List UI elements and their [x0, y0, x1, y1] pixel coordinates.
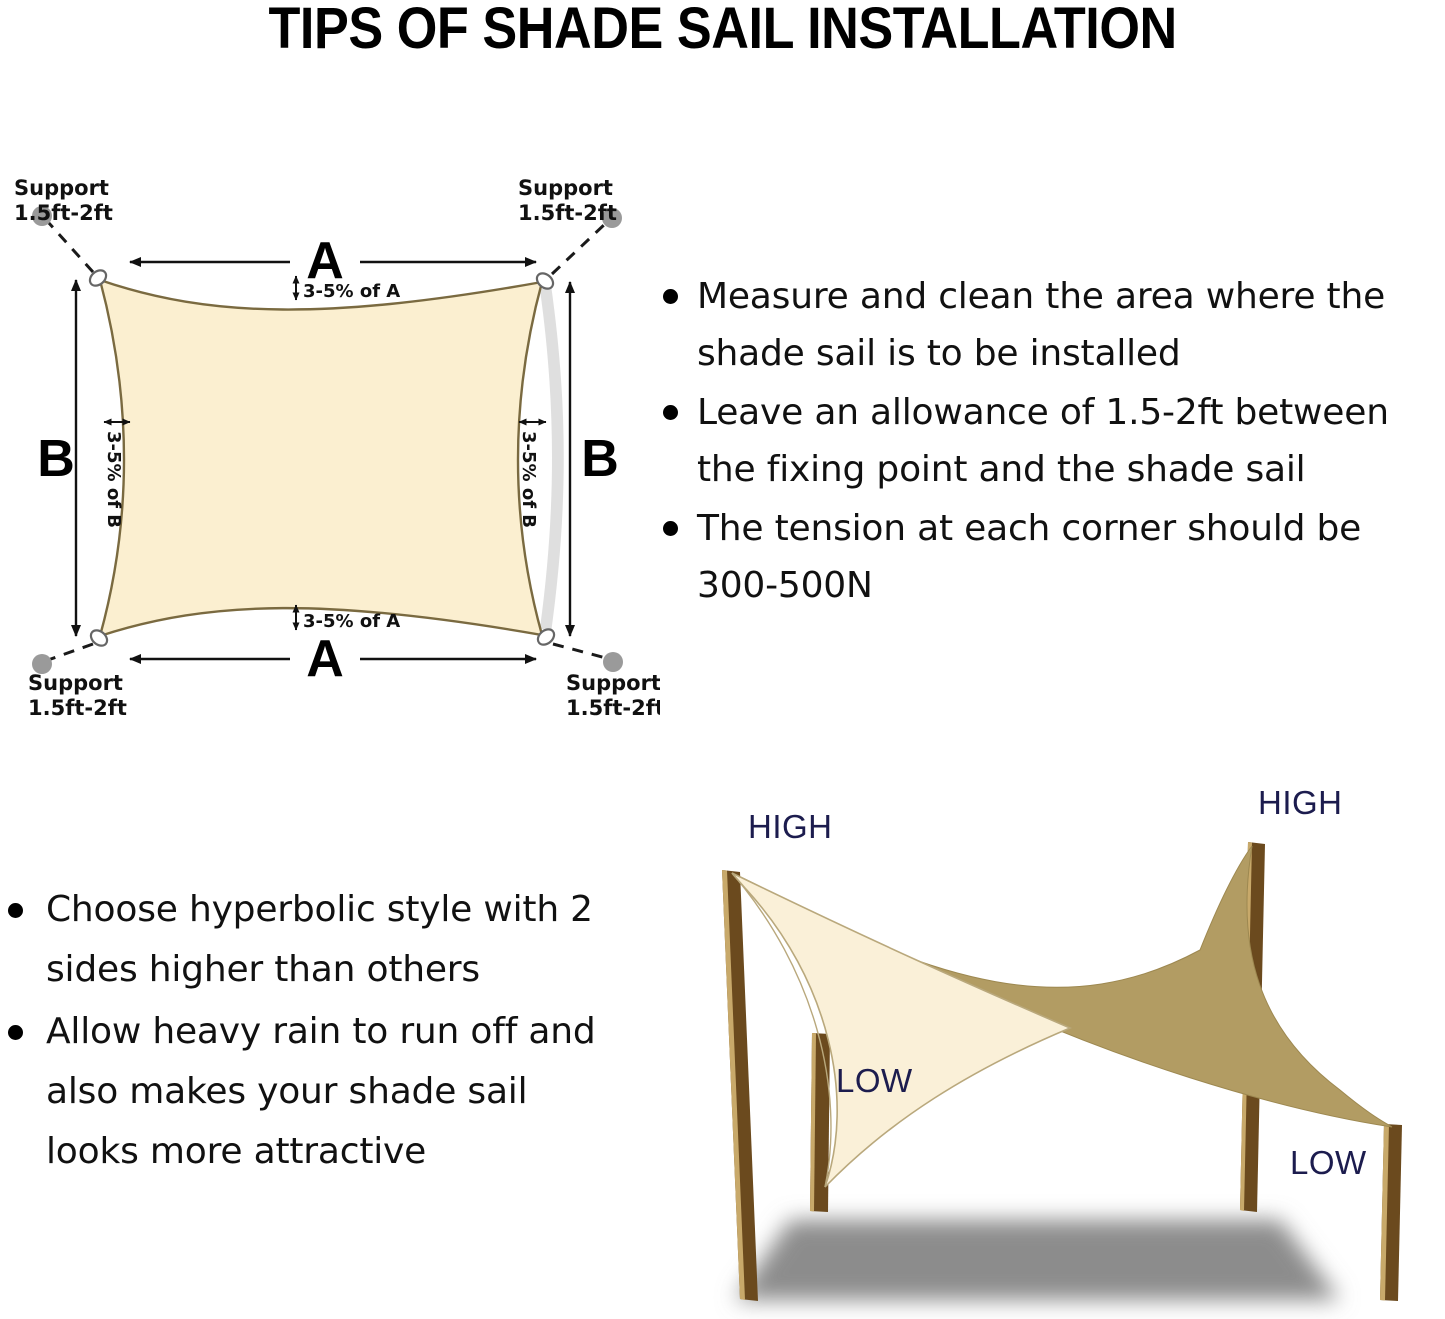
list-item: Leave an allowance of 1.5-2ft between th…	[645, 384, 1445, 498]
svg-text:Support: Support	[28, 671, 123, 695]
dimension-label-B-left: B	[37, 430, 75, 488]
support-label-bottom-left: Support 1.5ft-2ft	[28, 671, 127, 720]
post-label-high-left: HIGH	[748, 808, 833, 845]
hyperbolic-shade-sail-illustration: HIGH HIGH LOW LOW	[640, 770, 1445, 1319]
support-label-top-right: Support 1.5ft-2ft	[518, 176, 617, 225]
shade-sail-shape	[100, 280, 542, 636]
list-item-label: Leave an allowance of 1.5-2ft between th…	[697, 384, 1445, 498]
post-low-right	[1380, 1124, 1402, 1301]
svg-text:Support: Support	[518, 176, 613, 200]
list-item: The tension at each corner should be 300…	[645, 500, 1445, 614]
list-item: Measure and clean the area where the sha…	[645, 268, 1445, 382]
edge-reference-band	[540, 285, 564, 633]
ground-shadow	[735, 1220, 1340, 1300]
svg-text:1.5ft-2ft: 1.5ft-2ft	[566, 696, 660, 720]
page-title-text: TIPS OF SHADE SAIL INSTALLATION	[268, 0, 1176, 62]
curvature-label-left: 3-5% of B	[103, 431, 124, 528]
sail-surface-light	[732, 873, 1070, 1187]
list-item-label: The tension at each corner should be 300…	[697, 500, 1445, 614]
svg-text:1.5ft-2ft: 1.5ft-2ft	[28, 696, 127, 720]
bullet-dot-icon	[8, 1025, 23, 1040]
dimension-label-B-right: B	[581, 430, 619, 488]
bullet-dot-icon	[663, 289, 678, 304]
dimension-label-A-bottom: A	[306, 630, 344, 688]
curvature-label-right: 3-5% of B	[518, 431, 539, 528]
post-label-low-right: LOW	[1290, 1144, 1367, 1181]
bullet-dot-icon	[8, 903, 23, 918]
shade-sail-dimension-diagram: Support 1.5ft-2ft Support 1.5ft-2ft Supp…	[0, 150, 660, 750]
installation-tips-list-top: Measure and clean the area where the sha…	[645, 268, 1445, 616]
post-label-low-left: LOW	[836, 1062, 913, 1099]
list-item-label: Allow heavy rain to run off and also mak…	[46, 1002, 625, 1182]
list-item-label: Measure and clean the area where the sha…	[697, 268, 1445, 382]
post-label-high-right: HIGH	[1258, 784, 1343, 821]
list-item: Choose hyperbolic style with 2 sides hig…	[0, 880, 625, 1000]
list-item-label: Choose hyperbolic style with 2 sides hig…	[46, 880, 625, 1000]
support-dot-bottom-right	[603, 652, 623, 672]
support-label-bottom-right: Support 1.5ft-2ft	[566, 671, 660, 720]
bullet-dot-icon	[663, 521, 678, 536]
svg-text:Support: Support	[566, 671, 660, 695]
support-label-top-left: Support 1.5ft-2ft	[14, 176, 113, 225]
svg-text:1.5ft-2ft: 1.5ft-2ft	[14, 201, 113, 225]
bullet-dot-icon	[663, 405, 678, 420]
svg-text:1.5ft-2ft: 1.5ft-2ft	[518, 201, 617, 225]
page-title: TIPS OF SHADE SAIL INSTALLATION	[0, 0, 1445, 60]
curvature-label-top: 3-5% of A	[303, 281, 400, 302]
post-high-left	[722, 870, 758, 1301]
installation-tips-list-bottom: Choose hyperbolic style with 2 sides hig…	[0, 880, 625, 1184]
curvature-label-bottom: 3-5% of A	[303, 611, 400, 632]
svg-text:Support: Support	[14, 176, 109, 200]
list-item: Allow heavy rain to run off and also mak…	[0, 1002, 625, 1182]
